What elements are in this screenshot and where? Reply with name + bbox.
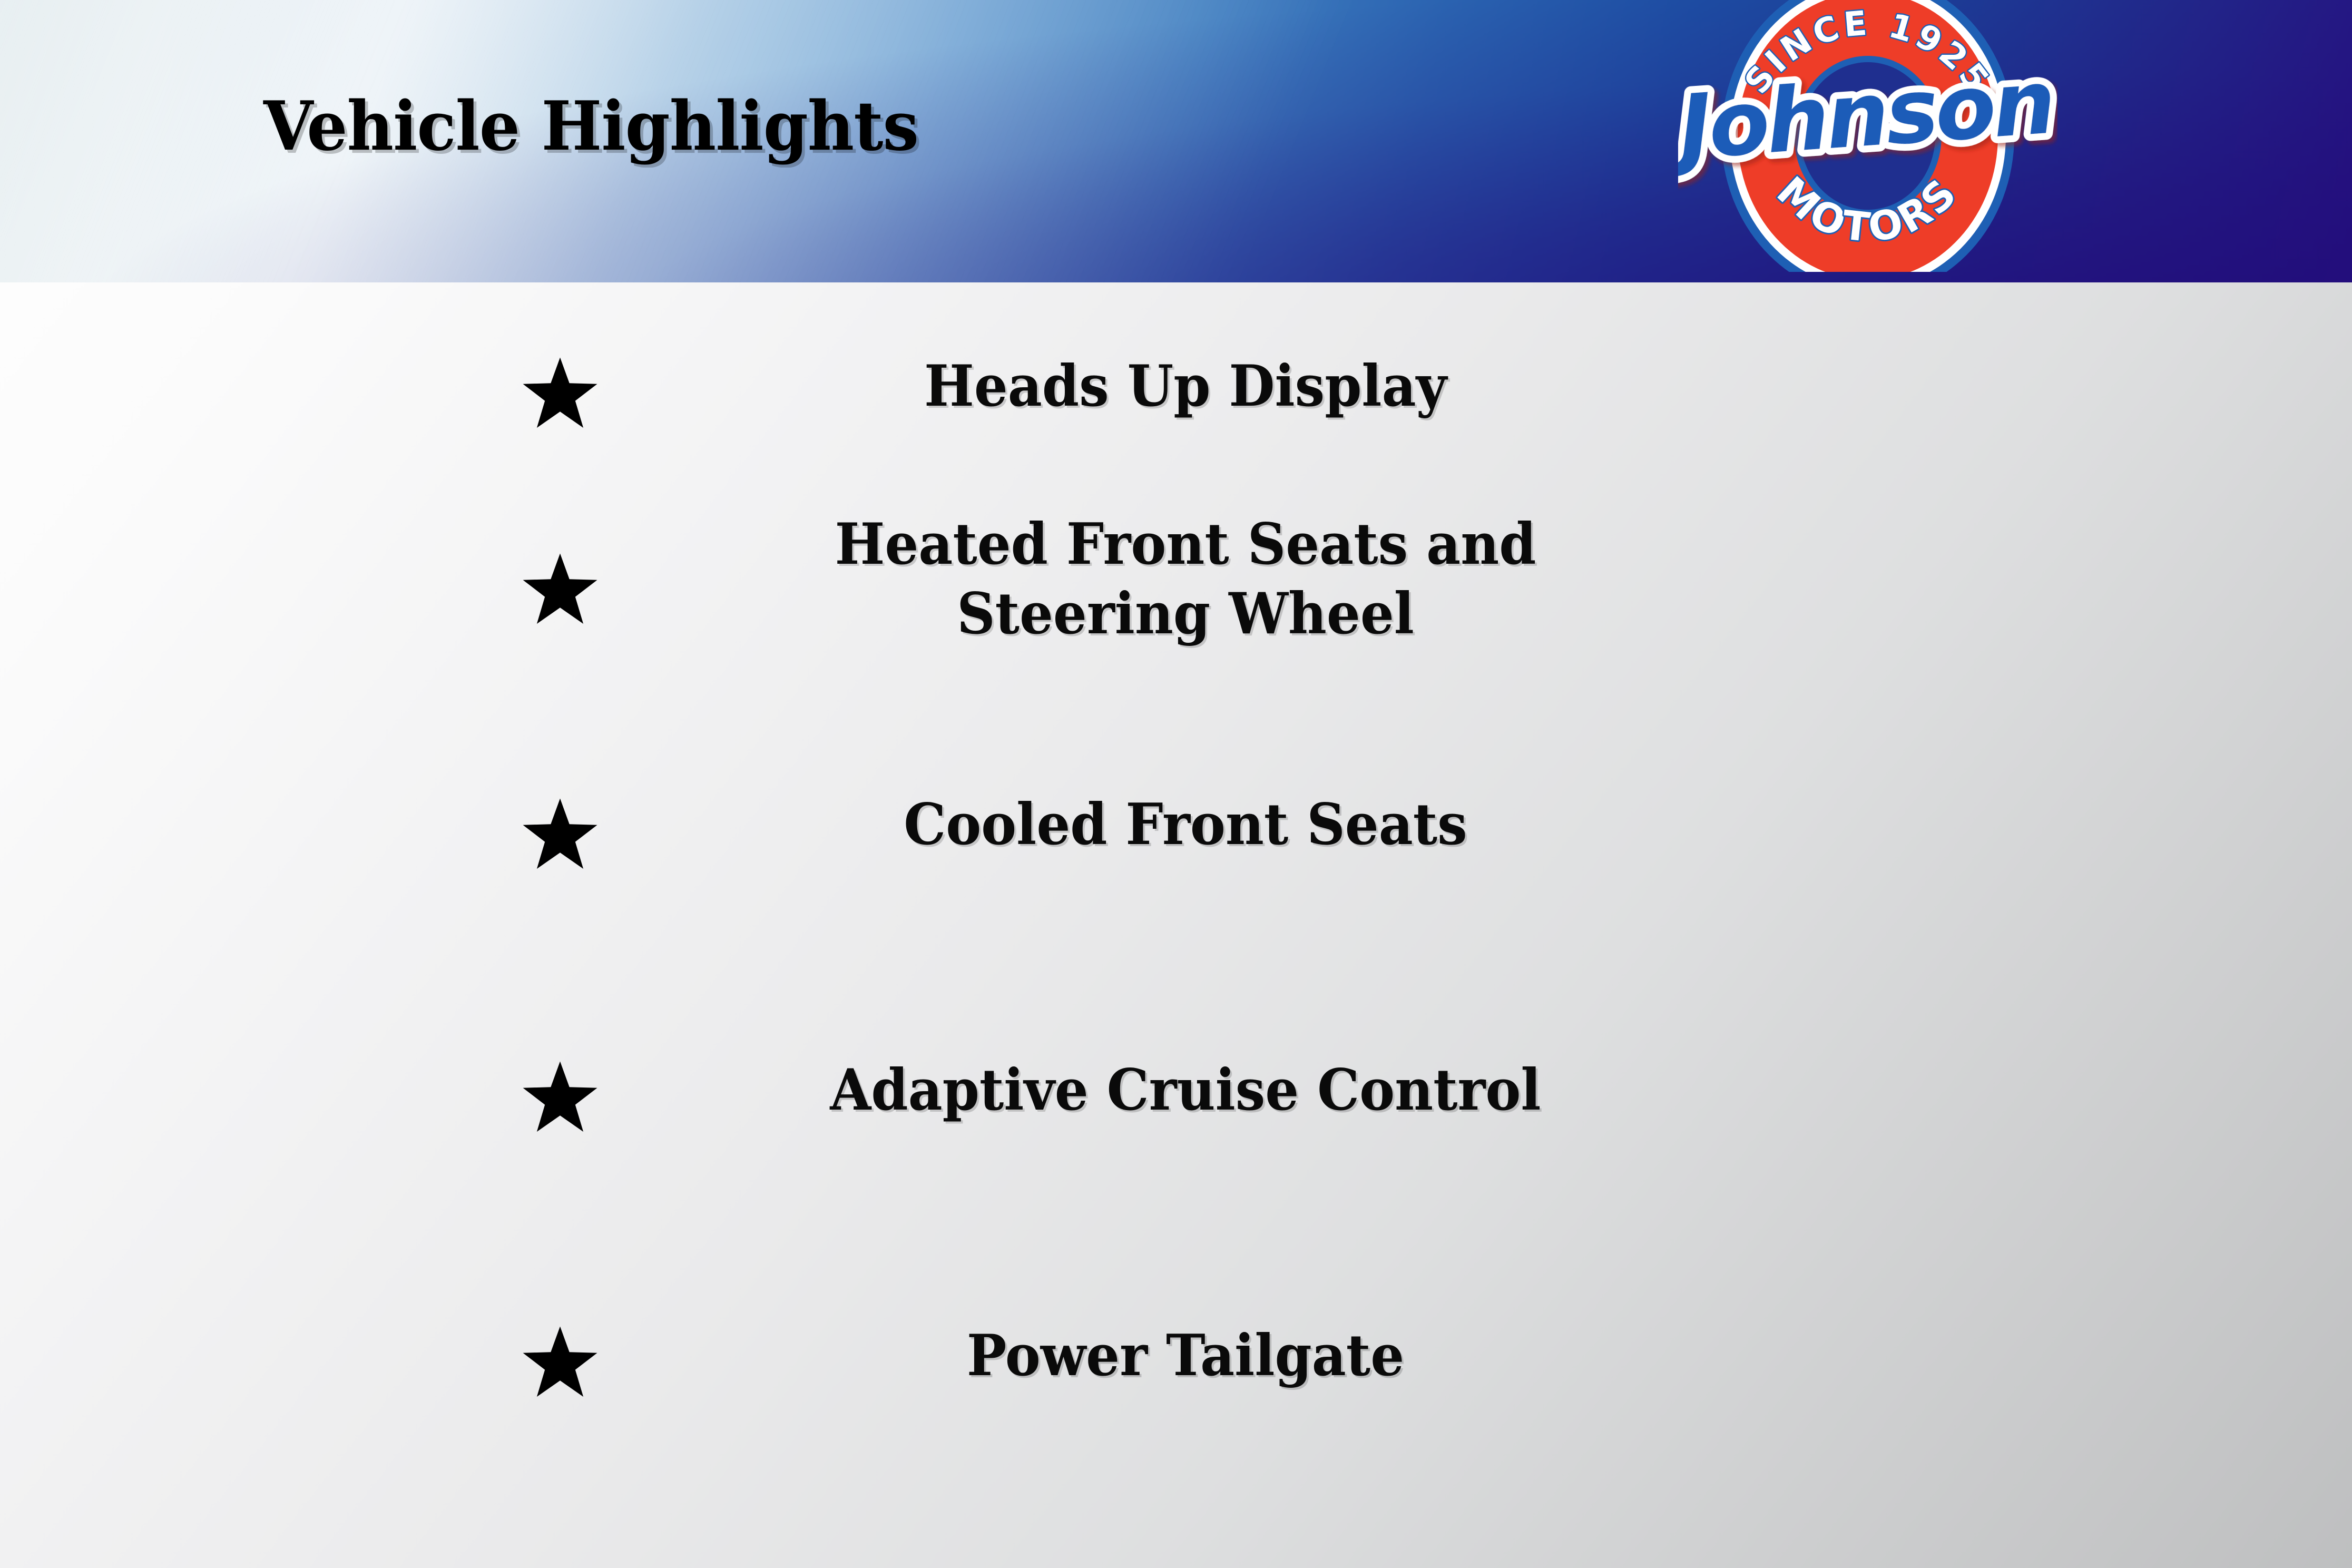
star-icon [521,355,600,434]
star-icon [521,796,600,875]
slide-canvas: Vehicle Highlights [0,0,2352,1568]
page-title: Vehicle Highlights [263,93,918,160]
feature-list: Heads Up Display Heated Front Seats and … [0,282,2352,1568]
feature-label: Heated Front Seats and Steering Wheel [695,510,1675,649]
feature-label: Adaptive Cruise Control [695,1056,1675,1125]
feature-label: Cooled Front Seats [695,790,1675,860]
feature-label: Power Tailgate [695,1321,1675,1391]
feature-label: Heads Up Display [695,352,1675,422]
header-banner: Vehicle Highlights [0,0,2352,282]
johnson-motors-logo: SINCE 1925 MOTORS Johnson [1678,0,2057,272]
star-icon [521,1059,600,1138]
star-icon [521,1324,600,1403]
star-icon [521,551,600,630]
